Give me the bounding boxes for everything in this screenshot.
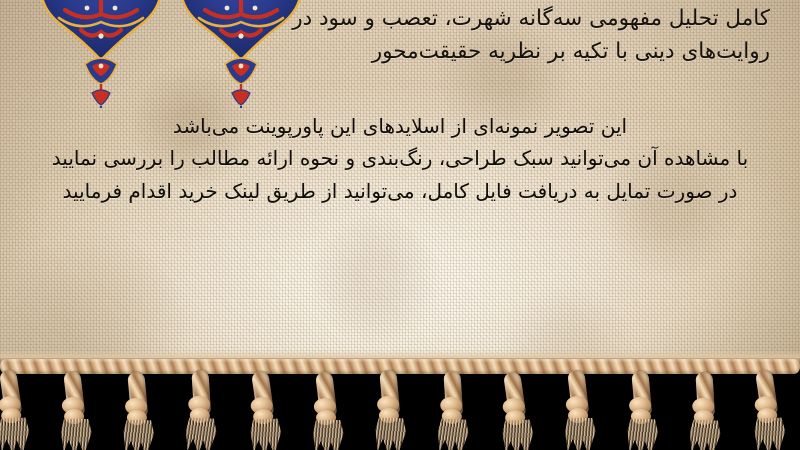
persian-medallion-ornament-left — [35, 0, 167, 108]
body-line-3: در صورت تمایل به دریافت فایل کامل، می‌تو… — [0, 175, 800, 207]
slide-canvas: کامل تحلیل مفهومی سه‌گانه شهرت، تعصب و س… — [0, 0, 800, 450]
body-line-1: این تصویر نمونه‌ای از اسلایدهای این پاور… — [0, 110, 800, 142]
braided-cord — [0, 359, 800, 374]
slide-body-text: این تصویر نمونه‌ای از اسلایدهای این پاور… — [0, 110, 800, 207]
body-line-2: با مشاهده آن می‌توانید سبک طراحی، رنگ‌بن… — [0, 142, 800, 174]
slide-title: کامل تحلیل مفهومی سه‌گانه شهرت، تعصب و س… — [230, 2, 770, 69]
